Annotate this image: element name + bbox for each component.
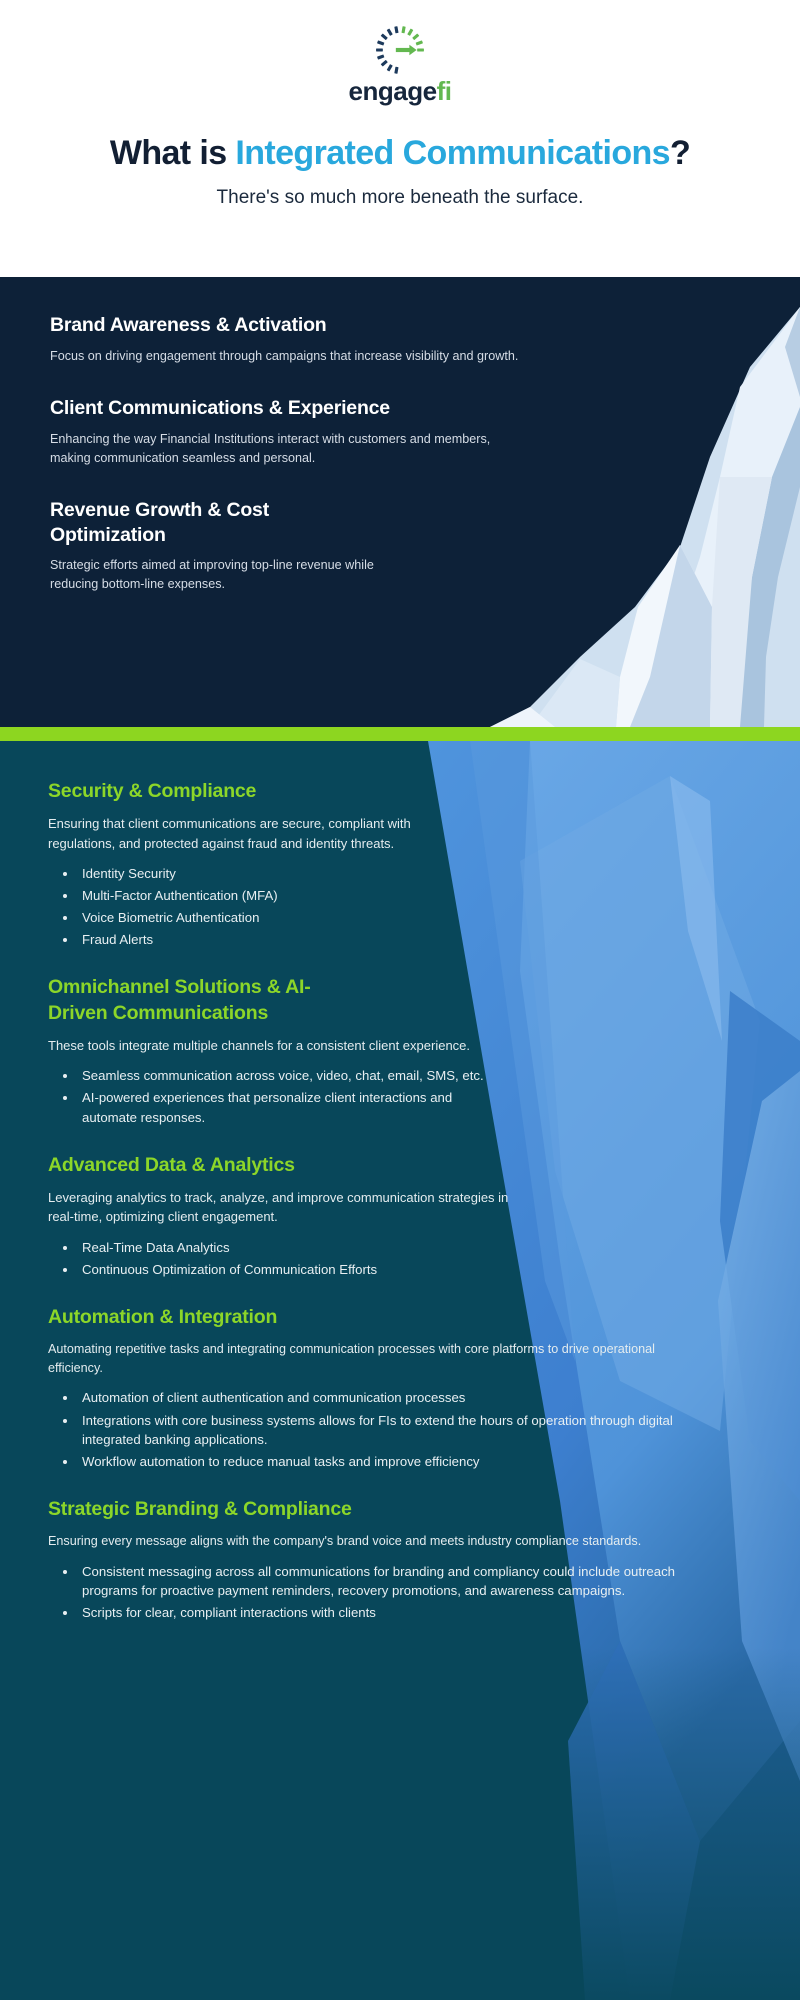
block-body: Strategic efforts aimed at improving top… <box>50 556 390 594</box>
below-water-block: Omnichannel Solutions & AI-Driven Commun… <box>48 975 720 1126</box>
engage-fi-dial-icon <box>374 24 426 76</box>
brand-name-engage: engage <box>349 76 437 106</box>
page-title-highlight: Integrated Communications <box>235 134 670 172</box>
block-body: Enhancing the way Financial Institutions… <box>50 430 520 468</box>
block-body: Ensuring every message aligns with the c… <box>48 1532 668 1551</box>
above-water-section: Brand Awareness & Activation Focus on dr… <box>0 277 800 727</box>
block-heading: Strategic Branding & Compliance <box>48 1497 720 1522</box>
list-item: Consistent messaging across all communic… <box>78 1562 720 1600</box>
list-item: Identity Security <box>78 864 720 883</box>
block-bullet-list: Consistent messaging across all communic… <box>78 1562 720 1622</box>
brand-logo: engagefi <box>0 0 800 104</box>
block-body: Ensuring that client communications are … <box>48 814 448 852</box>
list-item: Multi-Factor Authentication (MFA) <box>78 886 720 905</box>
above-water-block: Client Communications & Experience Enhan… <box>50 396 560 468</box>
block-heading: Brand Awareness & Activation <box>50 313 560 338</box>
below-water-block: Advanced Data & Analytics Leveraging ana… <box>48 1153 720 1279</box>
list-item: Continuous Optimization of Communication… <box>78 1260 638 1279</box>
block-bullet-list: Identity Security Multi-Factor Authentic… <box>78 864 720 950</box>
list-item: Real-Time Data Analytics <box>78 1238 638 1257</box>
block-body: Automating repetitive tasks and integrat… <box>48 1340 668 1377</box>
list-item: Automation of client authentication and … <box>78 1388 698 1407</box>
below-water-section: Security & Compliance Ensuring that clie… <box>0 741 800 2000</box>
page-title-prefix: What is <box>110 134 236 172</box>
block-body: Leveraging analytics to track, analyze, … <box>48 1188 518 1226</box>
list-item: AI-powered experiences that personalize … <box>78 1088 498 1126</box>
list-item: Scripts for clear, compliant interaction… <box>78 1603 720 1622</box>
block-body: These tools integrate multiple channels … <box>48 1036 518 1055</box>
block-heading: Automation & Integration <box>48 1305 720 1330</box>
block-bullet-list: Seamless communication across voice, vid… <box>78 1066 498 1126</box>
block-body: Focus on driving engagement through camp… <box>50 347 560 366</box>
above-water-block: Brand Awareness & Activation Focus on dr… <box>50 313 560 366</box>
brand-name-fi: fi <box>437 76 452 106</box>
below-water-block: Automation & Integration Automating repe… <box>48 1305 720 1471</box>
block-heading: Security & Compliance <box>48 779 720 804</box>
below-water-copy: Security & Compliance Ensuring that clie… <box>0 741 720 1622</box>
list-item: Workflow automation to reduce manual tas… <box>78 1452 698 1471</box>
block-bullet-list: Automation of client authentication and … <box>78 1388 698 1471</box>
above-water-block: Revenue Growth & Cost Optimization Strat… <box>50 498 560 595</box>
list-item: Voice Biometric Authentication <box>78 908 720 927</box>
block-bullet-list: Real-Time Data Analytics Continuous Opti… <box>78 1238 638 1279</box>
block-heading: Omnichannel Solutions & AI-Driven Commun… <box>48 975 358 1026</box>
below-water-block: Strategic Branding & Compliance Ensuring… <box>48 1497 720 1622</box>
block-heading: Advanced Data & Analytics <box>48 1153 720 1178</box>
block-heading: Client Communications & Experience <box>50 396 560 421</box>
list-item: Integrations with core business systems … <box>78 1411 698 1449</box>
below-water-block: Security & Compliance Ensuring that clie… <box>48 779 720 949</box>
list-item: Fraud Alerts <box>78 930 720 949</box>
above-water-copy: Brand Awareness & Activation Focus on dr… <box>0 277 560 594</box>
page-title-suffix: ? <box>670 134 690 172</box>
page-subtitle: There's so much more beneath the surface… <box>0 187 800 209</box>
brand-wordmark: engagefi <box>349 78 452 104</box>
list-item: Seamless communication across voice, vid… <box>78 1066 498 1085</box>
waterline-divider <box>0 727 800 741</box>
page-header: engagefi What is Integrated Communicatio… <box>0 0 800 277</box>
page-title: What is Integrated Communications? <box>0 134 800 173</box>
block-heading: Revenue Growth & Cost Optimization <box>50 498 340 548</box>
